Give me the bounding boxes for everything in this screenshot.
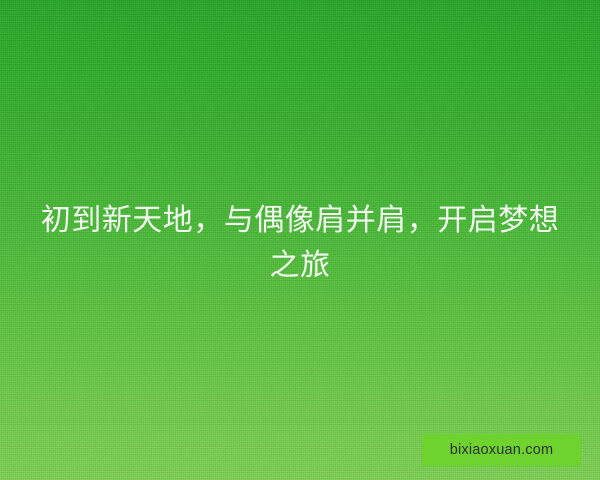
banner-image: 初到新天地，与偶像肩并肩，开启梦想之旅 bixiaoxuan.com	[0, 0, 600, 480]
watermark-badge: bixiaoxuan.com	[422, 434, 581, 466]
watermark-label: bixiaoxuan.com	[450, 443, 554, 458]
headline-text: 初到新天地，与偶像肩并肩，开启梦想之旅	[0, 198, 600, 288]
